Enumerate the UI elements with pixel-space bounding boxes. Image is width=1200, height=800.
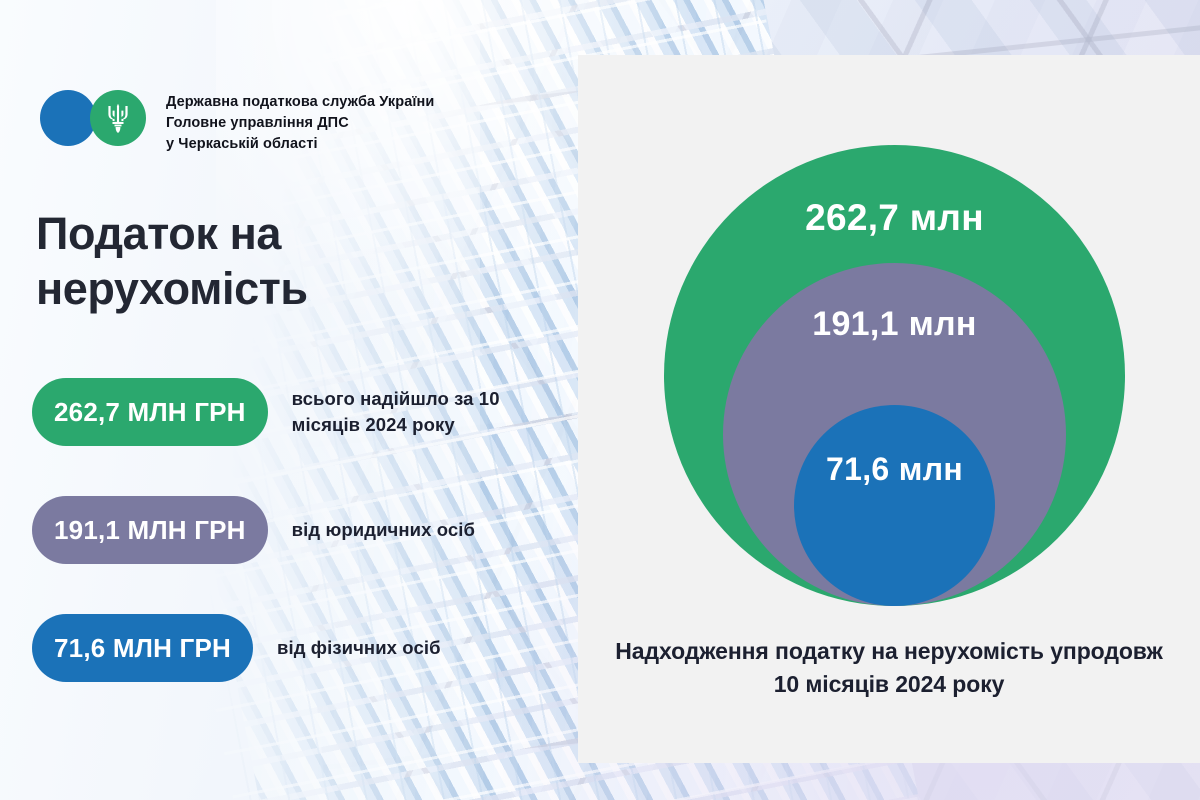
stat-pill-total: 262,7 МЛН ГРН (32, 378, 268, 446)
stat-description-total: всього надійшло за 10 місяців 2024 року (292, 386, 552, 439)
organisation-header: Державна податкова служба України Головн… (40, 88, 434, 155)
chart-circle-label-legal-entities: 191,1 млн (812, 305, 977, 344)
organisation-name: Державна податкова служба України Головн… (166, 88, 434, 155)
stat-row-legal-entities: 191,1 МЛН ГРН від юридичних осіб (32, 490, 552, 570)
stats-list: 262,7 МЛН ГРН всього надійшло за 10 міся… (32, 372, 552, 688)
page-title: Податок на нерухомість (36, 207, 396, 317)
stat-row-individuals: 71,6 МЛН ГРН від фізичних осіб (32, 608, 552, 688)
logo-blue-circle-icon (40, 90, 96, 146)
organisation-line-2: Головне управління ДПС (166, 113, 434, 134)
chart-caption: Надходження податку на нерухомість упрод… (578, 635, 1200, 701)
stat-pill-individuals: 71,6 МЛН ГРН (32, 614, 253, 682)
stat-row-total: 262,7 МЛН ГРН всього надійшло за 10 міся… (32, 372, 552, 452)
infographic-canvas: Державна податкова служба України Головн… (0, 0, 1200, 800)
stat-pill-legal-entities: 191,1 МЛН ГРН (32, 496, 268, 564)
chart-circle-label-total: 262,7 млн (805, 197, 984, 239)
logo-green-circle-icon (90, 90, 146, 146)
nested-circles-chart: 262,7 млн 191,1 млн 71,6 млн (578, 55, 1200, 615)
stat-description-individuals: від фізичних осіб (277, 635, 441, 661)
chart-panel: 262,7 млн 191,1 млн 71,6 млн Надходження… (578, 55, 1200, 763)
organisation-line-3: у Черкаській області (166, 134, 434, 155)
chart-circle-individuals: 71,6 млн (794, 405, 995, 606)
stat-description-legal-entities: від юридичних осіб (292, 517, 475, 543)
chart-circle-label-individuals: 71,6 млн (826, 451, 963, 488)
logo (40, 88, 152, 148)
organisation-line-1: Державна податкова служба України (166, 92, 434, 113)
ukraine-trident-icon (106, 103, 130, 133)
